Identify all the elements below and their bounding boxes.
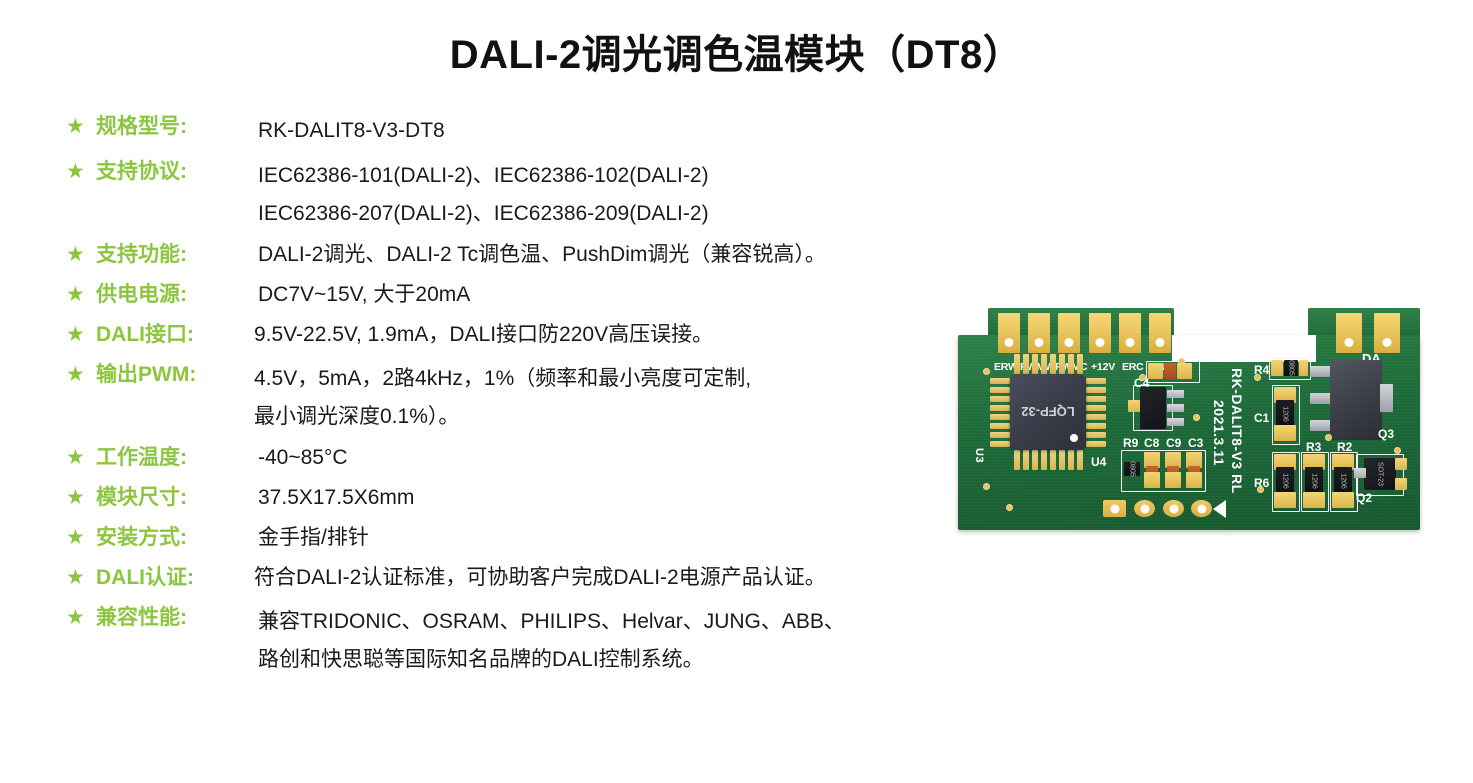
spec-value-line: DC7V~15V, 大于20mA <box>258 280 1026 310</box>
component-r2-pad-b <box>1332 492 1354 508</box>
spec-row-functions: ★ 支持功能: DALI-2调光、DALI-2 Tc调色温、PushDim调光（… <box>66 240 1026 270</box>
spec-row-dimensions: ★ 模块尺寸: 37.5X17.5X6mm <box>66 483 1026 513</box>
spec-values-model: RK-DALIT8-V3-DT8 <box>258 112 1026 150</box>
spec-value-line: 路创和快思聪等国际知名品牌的DALI控制系统。 <box>258 641 1026 679</box>
pcb-via <box>1006 504 1013 511</box>
pcb-designator-c9: C9 <box>1166 436 1181 450</box>
mcu-pin1-dot <box>1070 434 1078 442</box>
component-regulator-lead-1 <box>1167 390 1184 398</box>
pcb-pin-label-12v: +12V <box>1091 361 1115 373</box>
spec-row-pwm-output: ★ 输出PWM: 4.5V，5mA，2路4kHz，1%（频率和最小亮度可定制, … <box>66 360 1026 436</box>
spec-values-temperature: -40~85°C <box>258 443 1026 473</box>
pcb-silk-board-date: 2021.3.11 <box>1211 400 1227 466</box>
test-pad-square <box>1103 500 1126 517</box>
spec-row-dali-interface: ★ DALI接口: 9.5V-22.5V, 1.9mA，DALI接口防220V高… <box>66 320 1026 350</box>
spec-label-compatibility: 兼容性能: <box>96 603 258 633</box>
pcb-designator-u3: U3 <box>973 448 985 463</box>
gold-finger-pad-da-1 <box>1336 313 1362 353</box>
component-r6: 1206 <box>1276 467 1294 495</box>
gold-finger-pad-erw <box>998 313 1020 353</box>
component-r4-pad-a <box>1271 360 1283 376</box>
spec-value-line: IEC62386-207(DALI-2)、IEC62386-209(DALI-2… <box>258 195 1026 233</box>
pcb-top-tab-right <box>1308 308 1420 338</box>
component-r6-pad-b <box>1274 492 1296 508</box>
pcb-designator-q2: Q2 <box>1356 491 1372 505</box>
component-regulator-lead-3 <box>1167 418 1184 426</box>
spec-value-line: RK-DALIT8-V3-DT8 <box>258 112 1026 150</box>
spec-values-functions: DALI-2调光、DALI-2 Tc调色温、PushDim调光（兼容锐高）。 <box>258 240 1026 270</box>
chip-pins-bottom <box>1014 450 1083 470</box>
star-icon: ★ <box>66 563 96 593</box>
mcu-chip-lqfp32: LQFP-32 <box>1010 374 1086 450</box>
spec-label-mounting: 安装方式: <box>96 523 258 553</box>
spec-row-temperature: ★ 工作温度: -40~85°C <box>66 443 1026 473</box>
component-r9: 0805 <box>1124 462 1140 476</box>
spec-value-line: 最小调光深度0.1%）。 <box>254 398 1026 436</box>
component-c1: 1206 <box>1276 400 1294 428</box>
spec-value-line: 符合DALI-2认证标准，可协助客户完成DALI-2电源产品认证。 <box>254 563 1026 593</box>
pcb-designator-r9: R9 <box>1123 436 1138 450</box>
star-icon: ★ <box>66 240 96 270</box>
component-c4-pad-b <box>1177 363 1192 379</box>
component-q3-lead-2 <box>1310 393 1332 404</box>
spec-value-line: 4.5V，5mA，2路4kHz，1%（频率和最小亮度可定制, <box>254 360 1026 398</box>
component-regulator-pad <box>1128 400 1140 412</box>
spec-values-protocols: IEC62386-101(DALI-2)、IEC62386-102(DALI-2… <box>258 157 1026 233</box>
spec-values-dali-interface: 9.5V-22.5V, 1.9mA，DALI接口防220V高压误接。 <box>254 320 1026 350</box>
pcb-via <box>1254 374 1261 381</box>
star-icon: ★ <box>66 443 96 473</box>
component-q2-body: SOT-23 <box>1364 458 1396 490</box>
spec-values-mounting: 金手指/排针 <box>258 523 1026 553</box>
gold-finger-pad-gnd <box>1149 313 1171 353</box>
spec-label-model: 规格型号: <box>96 112 258 142</box>
star-icon: ★ <box>66 603 96 633</box>
component-regulator-lead-2 <box>1167 404 1184 412</box>
pcb-silk-board-name: RK-DALIT8-V3 RL <box>1229 368 1245 494</box>
star-icon: ★ <box>66 483 96 513</box>
spec-row-compatibility: ★ 兼容性能: 兼容TRIDONIC、OSRAM、PHILIPS、Helvar、… <box>66 603 1026 679</box>
star-icon: ★ <box>66 112 96 142</box>
spec-label-certification: DALI认证: <box>96 563 254 593</box>
component-regulator-body <box>1140 387 1166 429</box>
spec-label-temperature: 工作温度: <box>96 443 258 473</box>
component-r2: 1206 <box>1334 467 1352 495</box>
pcb-via <box>1193 414 1200 421</box>
spec-values-compatibility: 兼容TRIDONIC、OSRAM、PHILIPS、Helvar、JUNG、ABB… <box>258 603 1026 679</box>
component-r3: 1206 <box>1305 467 1323 495</box>
spec-label-pwm-output: 输出PWM: <box>96 360 254 390</box>
component-q3-body <box>1330 360 1382 440</box>
component-r3-pad-b <box>1303 492 1325 508</box>
component-c3-pad-b <box>1186 472 1202 488</box>
pcb-via <box>1257 486 1264 493</box>
spec-row-certification: ★ DALI认证: 符合DALI-2认证标准，可协助客户完成DALI-2电源产品… <box>66 563 1026 593</box>
spec-value-line: 37.5X17.5X6mm <box>258 483 1026 513</box>
orientation-triangle-marker <box>1213 500 1226 518</box>
pcb-pin-label-erc: ERC <box>1122 361 1144 373</box>
pcb-via <box>1325 434 1332 441</box>
spec-value-line: -40~85°C <box>258 443 1026 473</box>
component-r4: 0805 <box>1284 360 1298 376</box>
component-q3-lead-3 <box>1310 420 1332 431</box>
pcb-via <box>1394 447 1401 454</box>
component-c4-body <box>1164 363 1176 379</box>
spec-value-line: DALI-2调光、DALI-2 Tc调色温、PushDim调光（兼容锐高）。 <box>258 240 1026 270</box>
spec-values-dimensions: 37.5X17.5X6mm <box>258 483 1026 513</box>
spec-label-protocols: 支持协议: <box>96 157 258 187</box>
spec-value-line: 兼容TRIDONIC、OSRAM、PHILIPS、Helvar、JUNG、ABB… <box>258 603 1026 641</box>
star-icon: ★ <box>66 523 96 553</box>
test-pad-round-3 <box>1191 500 1212 517</box>
pcb-designator-q3: Q3 <box>1378 427 1394 441</box>
specification-list: ★ 规格型号: RK-DALIT8-V3-DT8 ★ 支持协议: IEC6238… <box>66 112 1026 686</box>
spec-values-certification: 符合DALI-2认证标准，可协助客户完成DALI-2电源产品认证。 <box>254 563 1026 593</box>
component-q3-lead-4 <box>1380 384 1393 412</box>
pcb-designator-c8: C8 <box>1144 436 1159 450</box>
pcb-designator-c1: C1 <box>1254 411 1269 425</box>
test-pad-round-1 <box>1134 500 1155 517</box>
chip-pins-right <box>1086 378 1106 447</box>
pcb-via <box>983 368 990 375</box>
page-title: DALI-2调光调色温模块（DT8） <box>0 22 1473 80</box>
pcb-designator-c3: C3 <box>1188 436 1203 450</box>
spec-row-power: ★ 供电电源: DC7V~15V, 大于20mA <box>66 280 1026 310</box>
gold-finger-pad-pwmc <box>1058 313 1080 353</box>
spec-row-protocols: ★ 支持协议: IEC62386-101(DALI-2)、IEC62386-10… <box>66 157 1026 233</box>
pcb-via <box>983 483 990 490</box>
spec-values-power: DC7V~15V, 大于20mA <box>258 280 1026 310</box>
spec-value-line: IEC62386-101(DALI-2)、IEC62386-102(DALI-2… <box>258 157 1026 195</box>
pcb-board-image: DA ERW PWMW PWMC +12V ERC GND RK-DALIT8-… <box>958 308 1420 540</box>
star-icon: ★ <box>66 157 96 187</box>
pcb-designator-u4: U4 <box>1091 455 1106 469</box>
component-q2-pad-1 <box>1395 458 1407 470</box>
component-c9-pad-b <box>1165 472 1181 488</box>
spec-label-power: 供电电源: <box>96 280 258 310</box>
chip-pins-top <box>1014 354 1083 374</box>
pcb-via <box>1139 374 1146 381</box>
component-q2-pad-2 <box>1395 478 1407 490</box>
gold-finger-pad-12v <box>1089 313 1111 353</box>
component-q2-lead-1 <box>1354 468 1366 478</box>
spec-label-functions: 支持功能: <box>96 240 258 270</box>
gold-finger-pad-erc <box>1119 313 1141 353</box>
spec-value-line: 9.5V-22.5V, 1.9mA，DALI接口防220V高压误接。 <box>254 320 1026 350</box>
pcb-via <box>1178 358 1185 365</box>
component-c1-pad-b <box>1274 425 1296 441</box>
component-r4-pad-b <box>1299 360 1308 376</box>
chip-pins-left <box>990 378 1010 447</box>
spec-row-model: ★ 规格型号: RK-DALIT8-V3-DT8 <box>66 112 1026 150</box>
star-icon: ★ <box>66 320 96 350</box>
spec-values-pwm-output: 4.5V，5mA，2路4kHz，1%（频率和最小亮度可定制, 最小调光深度0.1… <box>254 360 1026 436</box>
spec-value-line: 金手指/排针 <box>258 523 1026 553</box>
gold-finger-pad-pwmw <box>1028 313 1050 353</box>
spec-row-mounting: ★ 安装方式: 金手指/排针 <box>66 523 1026 553</box>
component-q3-lead-1 <box>1310 366 1332 377</box>
spec-label-dali-interface: DALI接口: <box>96 320 254 350</box>
gold-finger-pad-da-2 <box>1374 313 1400 353</box>
test-pad-round-2 <box>1163 500 1184 517</box>
star-icon: ★ <box>66 280 96 310</box>
component-c4-pad-a <box>1148 363 1163 379</box>
star-icon: ★ <box>66 360 96 390</box>
spec-label-dimensions: 模块尺寸: <box>96 483 258 513</box>
component-c8-pad-b <box>1144 472 1160 488</box>
